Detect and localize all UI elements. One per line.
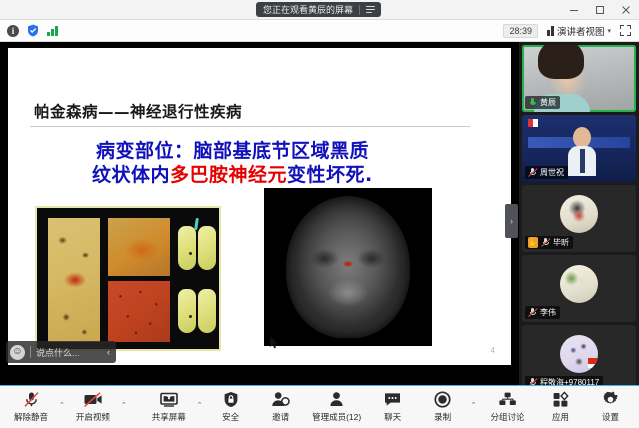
breakout-rooms-icon — [498, 391, 517, 409]
presentation-slide: 帕金森病——神经退行性疾病 病变部位：脑部基底节区域黑质 纹状体内多巴胺神经元变… — [8, 48, 511, 365]
speaker-view-icon — [547, 26, 554, 36]
share-options-caret[interactable]: ⌃ — [194, 401, 206, 409]
record-label: 录制 — [434, 411, 451, 423]
microphone-muted-icon — [23, 391, 40, 409]
participant-tile[interactable]: ✋ 毕昕 — [522, 185, 636, 252]
title-bar: 您正在观看黄辰的屏幕 — [0, 0, 639, 20]
chat-collapse-icon[interactable]: ‹ — [107, 347, 112, 357]
in-meeting-chat-input[interactable]: ☺ 说点什么... ‹ — [6, 341, 116, 363]
avatar — [560, 195, 598, 233]
brain-lobe-left-2 — [178, 289, 196, 333]
hamburger-icon[interactable] — [366, 6, 375, 13]
fullscreen-icon[interactable] — [620, 25, 631, 36]
mri-brain-cross-section — [286, 196, 410, 338]
screen-share-notice[interactable]: 您正在观看黄辰的屏幕 — [256, 2, 381, 17]
brain-lobe-right-1 — [198, 226, 216, 270]
brain-lobe-right-2 — [198, 289, 216, 333]
security-label: 安全 — [222, 411, 239, 423]
brain-specimen-image-1 — [177, 218, 217, 274]
control-bar-right: 结束会议 — [636, 386, 639, 428]
participant-tile[interactable]: 李伟 — [522, 255, 636, 322]
start-video-label: 开启视频 — [76, 411, 110, 423]
shared-screen-stage[interactable]: 帕金森病——神经退行性疾病 病变部位：脑部基底节区域黑质 纹状体内多巴胺神经元变… — [0, 42, 519, 385]
screen-share-notice-label: 您正在观看黄辰的屏幕 — [263, 3, 353, 16]
microphone-muted-icon — [541, 238, 550, 247]
histology-image-left — [48, 218, 100, 342]
raise-hand-icon: ✋ — [528, 237, 538, 248]
shield-security-icon — [223, 391, 239, 409]
broadcast-logo — [528, 119, 538, 127]
share-screen-label: 共享屏幕 — [152, 411, 186, 423]
settings-label: 设置 — [602, 411, 619, 423]
record-button[interactable]: 录制 — [418, 386, 468, 423]
avatar — [560, 265, 598, 303]
slide-line2-highlight: 多巴胺神经元 — [170, 164, 287, 186]
manage-participants-button[interactable]: 管理成员(12) — [306, 386, 368, 423]
chat-divider — [30, 346, 31, 358]
meeting-timer: 28:39 — [503, 24, 538, 38]
invite-button[interactable]: 邀请 — [256, 386, 306, 423]
audio-options-caret[interactable]: ⌃ — [56, 401, 68, 409]
brain-stem-1 — [194, 218, 199, 230]
slide-line2-suffix: 变性坏死. — [287, 164, 373, 186]
brain-specimen-image-2 — [177, 281, 217, 337]
control-bar-left: 解除静音 ⌃ 开启视频 ⌃ — [0, 386, 636, 428]
meeting-info-bar: i 28:39 演讲者视图 ▾ — [0, 20, 639, 42]
brain-marker-2 — [189, 315, 192, 318]
microphone-muted-icon — [528, 168, 537, 177]
chat-bubble-icon — [383, 391, 402, 409]
unmute-label: 解除静音 — [14, 411, 48, 423]
emoji-icon[interactable]: ☺ — [10, 345, 25, 360]
participant-name-bar: 程敬海+9780117 — [525, 376, 603, 385]
record-options-caret[interactable]: ⌃ — [468, 401, 480, 409]
apps-button[interactable]: 应用 — [536, 386, 586, 423]
participant-name-bar: ✋ 毕昕 — [525, 236, 573, 249]
meeting-controls-right: 28:39 演讲者视图 ▾ — [503, 24, 639, 38]
participant-head — [573, 127, 591, 148]
avatar — [560, 335, 598, 373]
title-underline — [30, 126, 470, 127]
slide-title: 帕金森病——神经退行性疾病 — [34, 100, 242, 122]
meeting-control-bar: 解除静音 ⌃ 开启视频 ⌃ — [0, 385, 639, 428]
chevron-down-icon: ▾ — [607, 27, 611, 35]
apps-label: 应用 — [552, 411, 569, 423]
security-button[interactable]: 安全 — [206, 386, 256, 423]
info-icon[interactable]: i — [7, 25, 19, 37]
participant-figure — [568, 127, 596, 175]
histology-image-panel — [35, 206, 221, 351]
slide-body-line-2: 纹状体内多巴胺神经元变性坏死. — [92, 160, 373, 187]
share-screen-icon — [159, 391, 179, 409]
slide-page-number: 4 — [491, 346, 495, 355]
microphone-muted-icon — [528, 308, 537, 317]
participants-icon — [327, 391, 346, 409]
close-button[interactable] — [613, 0, 639, 20]
chat-button[interactable]: 聊天 — [368, 386, 418, 423]
participant-name: 毕昕 — [553, 237, 569, 248]
slide-line2-prefix: 纹状体内 — [92, 164, 170, 186]
info-icon-glyph: i — [12, 26, 15, 36]
flag-icon — [588, 358, 597, 368]
view-mode-label: 演讲者视图 — [557, 24, 605, 38]
participant-tie — [580, 149, 585, 173]
participant-video-strip[interactable]: 黄辰 周世祝 ✋ 毕昕 — [519, 42, 639, 385]
gear-icon — [602, 391, 619, 409]
histology-grid — [44, 215, 212, 342]
share-screen-button[interactable]: 共享屏幕 — [144, 386, 194, 423]
maximize-button[interactable] — [587, 0, 613, 20]
slide-body-line-1: 病变部位：脑部基底节区域黑质 — [96, 136, 369, 163]
participant-tile[interactable]: 周世祝 — [522, 115, 636, 182]
zoom-meeting-window: 您正在观看黄辰的屏幕 i 28:39 — [0, 0, 639, 428]
signal-bars-icon[interactable] — [47, 25, 58, 36]
histology-image-top-right — [108, 218, 170, 276]
mri-lesion-marker — [344, 261, 352, 266]
panel-collapse-button[interactable]: › — [505, 204, 518, 238]
mouse-cursor — [270, 336, 279, 349]
participant-name: 周世祝 — [540, 167, 564, 178]
invite-label: 邀请 — [272, 411, 289, 423]
histology-image-bottom-right — [108, 281, 170, 342]
view-mode-selector[interactable]: 演讲者视图 ▾ — [547, 24, 611, 38]
chat-label: 聊天 — [384, 411, 401, 423]
settings-button[interactable]: 设置 — [586, 386, 636, 423]
invite-person-icon — [271, 391, 290, 409]
shield-icon[interactable] — [27, 24, 39, 37]
chevron-right-icon: › — [510, 216, 513, 226]
participant-name-bar: 李伟 — [525, 306, 560, 319]
manage-participants-label: 管理成员(12) — [312, 411, 361, 423]
minimize-button[interactable] — [561, 0, 587, 20]
participant-tile[interactable]: 程敬海+9780117 — [522, 325, 636, 385]
brain-lobe-left-1 — [178, 226, 196, 270]
breakout-rooms-label: 分组讨论 — [490, 411, 524, 423]
breakout-rooms-button[interactable]: 分组讨论 — [480, 386, 536, 423]
brain-marker-1 — [189, 252, 192, 255]
participant-name-bar: 周世祝 — [525, 166, 568, 179]
participant-name: 程敬海+9780117 — [540, 377, 599, 385]
participant-name-bar: 黄辰 — [525, 96, 560, 109]
start-video-button[interactable]: 开启视频 — [68, 386, 118, 423]
video-off-icon — [83, 391, 103, 409]
apps-icon — [552, 391, 570, 409]
chat-input-placeholder[interactable]: 说点什么... — [36, 346, 102, 359]
status-icons: i — [0, 24, 58, 37]
microphone-muted-icon — [528, 378, 537, 385]
participant-name: 李伟 — [540, 307, 556, 318]
participant-name: 黄辰 — [540, 97, 556, 108]
video-options-caret[interactable]: ⌃ — [118, 401, 130, 409]
notice-divider — [359, 5, 360, 15]
unmute-button[interactable]: 解除静音 — [6, 386, 56, 423]
participant-hair — [538, 45, 584, 79]
window-controls — [561, 0, 639, 20]
participant-tile[interactable]: 黄辰 — [522, 45, 636, 112]
record-icon — [434, 391, 451, 409]
mri-scan-image — [264, 188, 432, 346]
microphone-on-icon — [528, 98, 537, 107]
